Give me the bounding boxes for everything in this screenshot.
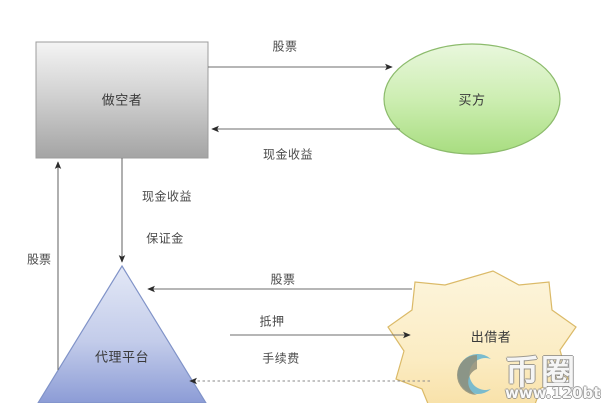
node-label-agent-platform: 代理平台 <box>95 347 149 366</box>
node-agent-platform[interactable] <box>38 266 206 403</box>
edge-label-platform-to-lender-collateral: 抵押 <box>259 313 284 330</box>
node-label-short-seller: 做空者 <box>102 90 143 109</box>
node-label-buyer: 买方 <box>458 90 485 109</box>
edge-label-lender-to-platform-fee: 手续费 <box>262 350 300 367</box>
edge-label-seller-to-platform-cash: 现金收益 <box>142 188 192 205</box>
edge-label-seller-to-platform-margin: 保证金 <box>146 230 184 247</box>
node-label-lender: 出借者 <box>471 327 512 346</box>
edge-label-seller-to-buyer-stock: 股票 <box>272 38 297 55</box>
edge-label-lender-to-platform-stock: 股票 <box>270 271 295 288</box>
edge-label-buyer-to-seller-cash: 现金收益 <box>263 146 313 163</box>
edge-label-platform-to-seller-stock: 股票 <box>27 251 51 268</box>
diagram-canvas: 做空者 买方 代理平台 出借者 股票 现金收益 现金收益 保证金 股票 股票 抵… <box>0 0 601 403</box>
